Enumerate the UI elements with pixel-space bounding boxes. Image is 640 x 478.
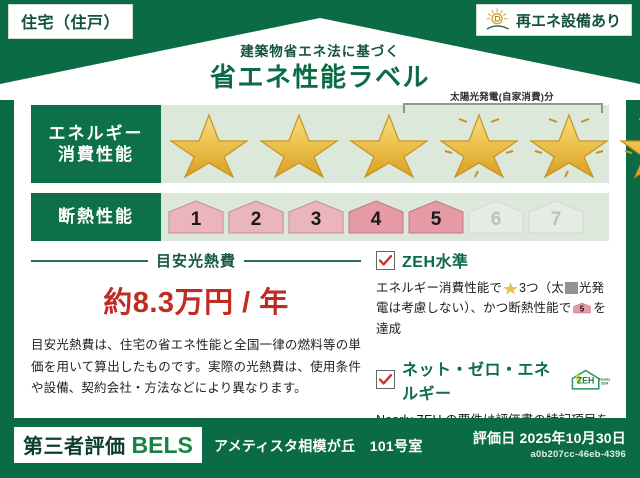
energy-performance-label: 建築物省エネ法に基づく 省エネ性能ラベル 住宅（住戸） 再エネ設備あり エネ: [0, 0, 640, 478]
redacted-block: [565, 282, 578, 294]
renewable-equipment-badge: 再エネ設備あり: [476, 4, 632, 36]
star-rating: [165, 107, 640, 181]
star-1: [165, 107, 253, 181]
energy-cost-block: 目安光熱費 約8.3万円 / 年 目安光熱費は、住宅の省エネ性能と全国一律の燃料…: [31, 250, 361, 400]
star-6-solar: [615, 107, 640, 181]
bels-logo-en: BELS: [132, 432, 193, 459]
property-name: アメティスタ相模が丘 101号室: [214, 436, 423, 456]
zeh-house-logo-icon: ZEH Nearly ZEH: [568, 367, 612, 393]
insulation-level-5-value: 5: [431, 209, 442, 235]
star-5-solar: [525, 107, 613, 181]
sun-icon: [485, 8, 511, 32]
insulation-performance-row: 断熱性能 1 2 3 4: [31, 193, 609, 241]
insulation-level-6-value: 6: [491, 209, 502, 235]
renewable-badge-label: 再エネ設備あり: [516, 10, 621, 31]
energy-performance-row: エネルギー 消費性能 太陽光発電(自家消費)分: [31, 105, 609, 183]
insulation-level-7: 7: [527, 199, 585, 235]
zeh-body-text-d: は考慮しない）、かつ断熱性能で: [389, 301, 572, 315]
insulation-level-5: 5: [407, 199, 465, 235]
label-body-card: エネルギー 消費性能 太陽光発電(自家消費)分: [14, 100, 626, 418]
zeh-standard-heading: ZEH水準: [376, 248, 612, 272]
svg-text:ZEH: ZEH: [577, 375, 595, 385]
inline-star-icon: [503, 281, 518, 295]
star-4-solar: [435, 107, 523, 181]
net-zero-energy-title: ネット・ゼロ・エネルギー: [402, 356, 559, 404]
footer-bar: 第三者評価 BELS アメティスタ相模が丘 101号室 評価日 2025年10月…: [0, 418, 640, 478]
checkbox-checked-icon-2: [376, 370, 395, 389]
bels-logo: 第三者評価 BELS: [14, 427, 202, 463]
building-type-tag: 住宅（住戸）: [8, 4, 133, 39]
inline-insulation-badge: 5: [573, 301, 591, 315]
rule-left: [31, 260, 148, 262]
insulation-level-3: 3: [287, 199, 345, 235]
insulation-level-4: 4: [347, 199, 405, 235]
svg-text:ZEH: ZEH: [601, 381, 609, 385]
bels-logo-jp: 第三者評価: [23, 430, 126, 459]
energy-cost-description: 目安光熱費は、住宅の省エネ性能と全国一律の燃料等の単価を用いて算出したものです。…: [31, 335, 361, 400]
zeh-standard-title: ZEH水準: [402, 248, 469, 272]
insulation-level-1: 1: [167, 199, 225, 235]
energy-cost-heading-text: 目安光熱費: [156, 250, 236, 271]
star-2: [255, 107, 343, 181]
energy-cost-value: 約8.3万円 / 年: [31, 279, 361, 321]
insulation-level-1-value: 1: [191, 209, 202, 235]
zeh-body-text-b: 3つ（太: [519, 281, 564, 295]
energy-label-line2: 消費性能: [58, 144, 134, 165]
insulation-level-2-value: 2: [251, 209, 262, 235]
net-zero-energy-heading: ネット・ゼロ・エネルギー ZEH Nearly ZEH: [376, 356, 612, 404]
label-title: 省エネ性能ラベル: [0, 57, 640, 94]
star-3: [345, 107, 433, 181]
evaluation-date: 評価日 2025年10月30日: [473, 428, 626, 448]
insulation-level-2: 2: [227, 199, 285, 235]
energy-performance-label: エネルギー 消費性能: [31, 105, 161, 183]
insulation-level-6: 6: [467, 199, 525, 235]
svg-text:5: 5: [580, 305, 585, 314]
insulation-performance-label: 断熱性能: [31, 193, 161, 241]
insulation-level-7-value: 7: [551, 209, 562, 235]
insulation-levels-area: 1 2 3 4 5: [161, 193, 609, 241]
checkbox-checked-icon: [376, 251, 395, 270]
evaluation-uid: a0b207cc-46eb-4396: [530, 449, 626, 460]
energy-label-line1: エネルギー: [49, 123, 144, 144]
energy-stars-area: 太陽光発電(自家消費)分: [161, 105, 609, 183]
rule-right: [244, 260, 361, 262]
zeh-standard-body: エネルギー消費性能で3つ（太光発電は考慮しない）、かつ断熱性能で5を達成: [376, 278, 612, 339]
energy-cost-heading: 目安光熱費: [31, 250, 361, 271]
insulation-level-4-value: 4: [371, 209, 382, 235]
insulation-level-3-value: 3: [311, 209, 322, 235]
column-divider: [366, 250, 368, 398]
zeh-body-text-a: エネルギー消費性能で: [376, 281, 502, 295]
